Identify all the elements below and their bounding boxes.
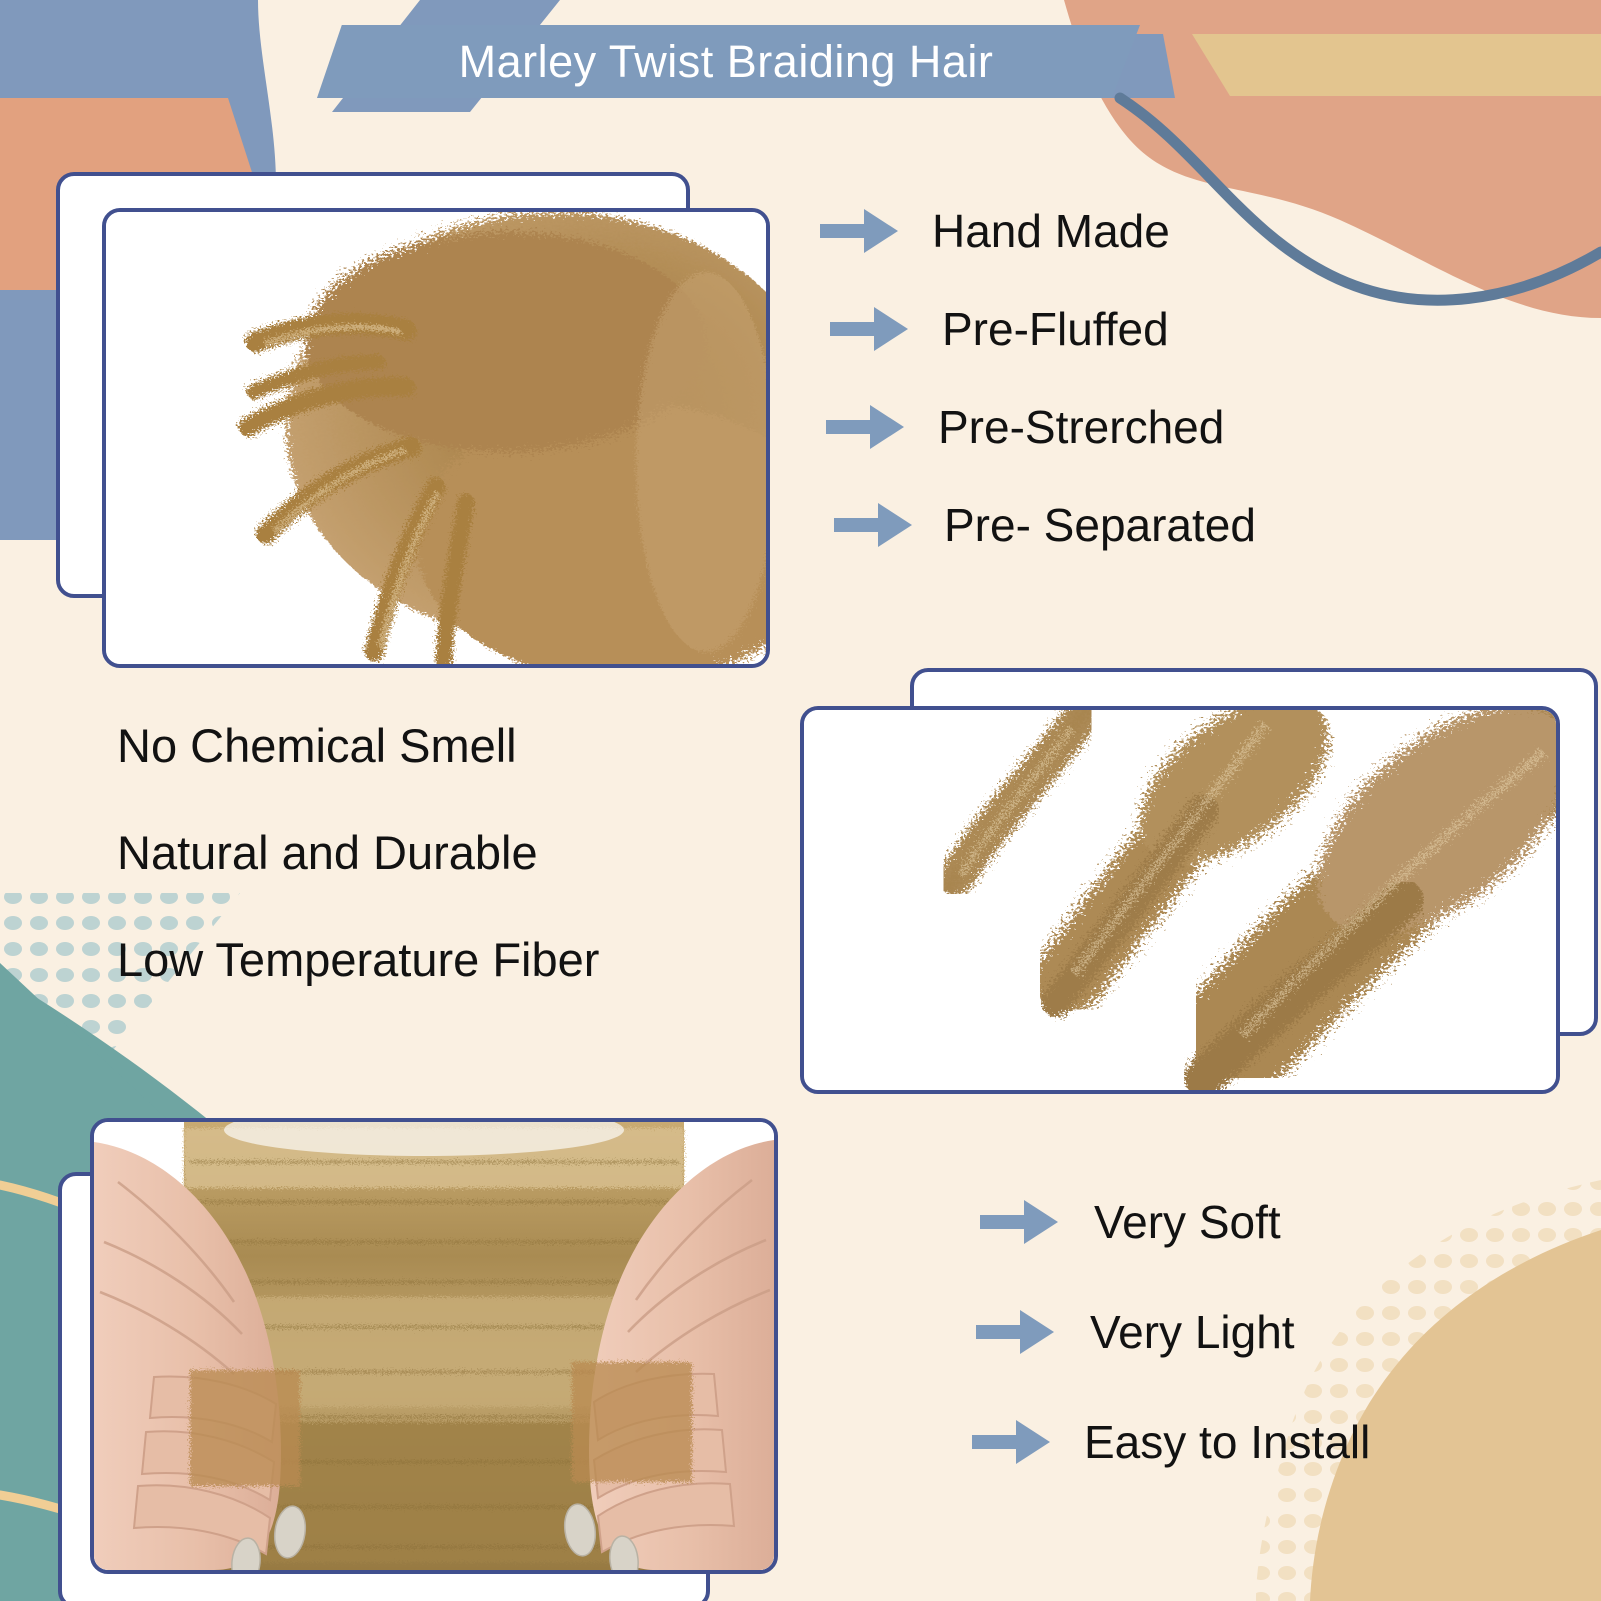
benefits-text-block: No Chemical Smell Natural and Durable Lo…: [117, 722, 599, 983]
feature-list-top: Hand Made Pre-Fluffed Pre-Strerched Pre-…: [820, 205, 1256, 551]
benefit-line: Low Temperature Fiber: [117, 936, 599, 983]
card-front-layer[interactable]: [90, 1118, 778, 1574]
feature-row[interactable]: Very Soft: [980, 1196, 1370, 1248]
page-title: Marley Twist Braiding Hair: [459, 39, 994, 84]
feature-label: Very Soft: [1094, 1199, 1281, 1245]
feature-row[interactable]: Hand Made: [820, 205, 1256, 257]
benefit-line: Natural and Durable: [117, 829, 599, 876]
arrow-right-icon: [820, 205, 900, 257]
feature-label: Easy to Install: [1084, 1419, 1370, 1465]
photo-card-curly-bundle: [56, 172, 768, 672]
feature-row[interactable]: Pre-Strerched: [826, 401, 1256, 453]
photo-hands-holding-hair: [94, 1122, 774, 1570]
infographic-canvas: Marley Twist Braiding Hair: [0, 0, 1601, 1601]
arrow-right-icon: [980, 1196, 1060, 1248]
arrow-right-icon: [972, 1416, 1052, 1468]
feature-list-bottom: Very Soft Very Light Easy to Install: [972, 1196, 1370, 1468]
card-front-layer[interactable]: [800, 706, 1560, 1094]
feature-label: Pre- Separated: [944, 502, 1256, 548]
photo-card-hands-holding-hair: [58, 1118, 788, 1601]
benefit-line: No Chemical Smell: [117, 722, 599, 769]
feature-row[interactable]: Very Light: [976, 1306, 1370, 1358]
arrow-right-icon: [830, 303, 910, 355]
feature-row[interactable]: Easy to Install: [972, 1416, 1370, 1468]
feature-label: Pre-Strerched: [938, 404, 1224, 450]
card-front-layer[interactable]: [102, 208, 770, 668]
arrow-right-icon: [976, 1306, 1056, 1358]
feature-label: Very Light: [1090, 1309, 1295, 1355]
photo-twist-strands: [804, 710, 1556, 1090]
arrow-right-icon: [826, 401, 906, 453]
feature-row[interactable]: Pre-Fluffed: [830, 303, 1256, 355]
photo-card-twist-strands: [800, 668, 1590, 1088]
feature-label: Pre-Fluffed: [942, 306, 1169, 352]
arrow-right-icon: [834, 499, 914, 551]
title-banner: Marley Twist Braiding Hair: [312, 25, 1140, 98]
shape-gold-band-topright: [1192, 34, 1601, 96]
photo-curly-bundle: [106, 212, 766, 664]
feature-label: Hand Made: [932, 208, 1170, 254]
feature-row[interactable]: Pre- Separated: [834, 499, 1256, 551]
